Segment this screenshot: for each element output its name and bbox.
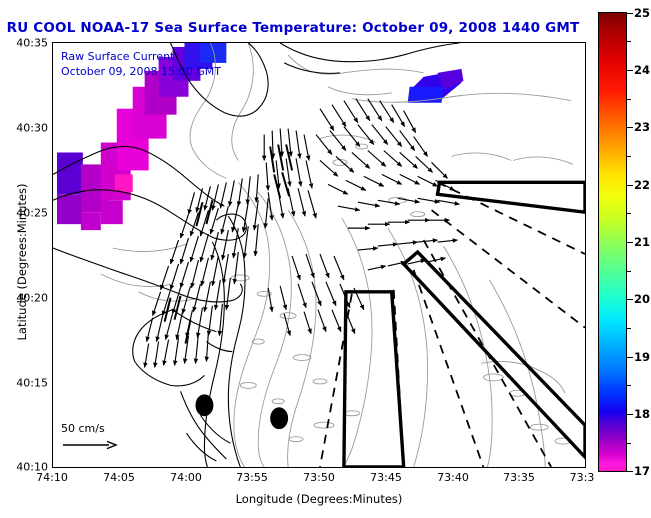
cbar-label-23: 23 bbox=[634, 120, 650, 134]
cbar-label-21: 21 bbox=[634, 235, 650, 249]
y-tick-0: 40:35 bbox=[4, 37, 48, 50]
cbar-label-24: 24 bbox=[634, 63, 650, 77]
cbar-minor-5 bbox=[627, 271, 631, 272]
subtitle-line-2: October 09, 2008 15:00 GMT bbox=[61, 64, 221, 79]
x-axis-title: Longitude (Degrees:Minutes) bbox=[52, 492, 586, 506]
y-tick-1: 40:30 bbox=[4, 122, 48, 135]
figure-title: RU COOL NOAA-17 Sea Surface Temperature:… bbox=[0, 20, 586, 36]
cbar-tick-22 bbox=[627, 185, 633, 186]
vector-density-core bbox=[165, 145, 293, 344]
cbar-minor-4 bbox=[627, 213, 631, 214]
temperature-colorbar bbox=[598, 12, 627, 472]
map-graphics bbox=[53, 43, 585, 467]
x-tick-8: 73:3 bbox=[570, 471, 595, 484]
y-axis-title: Latitude (Degrees:Minutes) bbox=[15, 162, 29, 362]
y-tick-5: 40:10 bbox=[4, 461, 48, 474]
cbar-minor-8 bbox=[627, 443, 631, 444]
x-tick-5: 73:45 bbox=[370, 471, 402, 484]
x-tick-1: 74:05 bbox=[103, 471, 135, 484]
cbar-minor-3 bbox=[627, 156, 631, 157]
radial-dashed-lines bbox=[320, 182, 585, 467]
cbar-label-19: 19 bbox=[634, 350, 650, 364]
right-arrow-icon bbox=[61, 439, 119, 451]
cbar-tick-18 bbox=[627, 414, 633, 415]
velocity-scale-legend: 50 cm/s bbox=[61, 422, 119, 451]
x-tick-4: 73:50 bbox=[303, 471, 335, 484]
cbar-label-17: 17 bbox=[634, 464, 650, 478]
cbar-minor-6 bbox=[627, 328, 631, 329]
cbar-tick-23 bbox=[627, 127, 633, 128]
cbar-minor-7 bbox=[627, 385, 631, 386]
cbar-tick-19 bbox=[627, 357, 633, 358]
scale-legend-label: 50 cm/s bbox=[61, 422, 119, 435]
cbar-label-18: 18 bbox=[634, 407, 650, 421]
x-tick-7: 73:35 bbox=[503, 471, 535, 484]
subtitle-block: Raw Surface Current October 09, 2008 15:… bbox=[61, 49, 221, 79]
cbar-label-20: 20 bbox=[634, 292, 650, 306]
cbar-tick-20 bbox=[627, 299, 633, 300]
x-tick-6: 73:40 bbox=[437, 471, 469, 484]
cbar-tick-17 bbox=[627, 471, 633, 472]
cbar-minor-1 bbox=[627, 41, 631, 42]
subtitle-line-1: Raw Surface Current bbox=[61, 49, 221, 64]
sst-current-map-figure: RU COOL NOAA-17 Sea Surface Temperature:… bbox=[0, 0, 651, 518]
shipping-lanes bbox=[344, 182, 585, 467]
cbar-tick-25 bbox=[627, 13, 633, 14]
surface-current-vectors bbox=[145, 99, 460, 368]
cbar-label-25: 25 bbox=[634, 6, 650, 20]
x-tick-2: 74:00 bbox=[170, 471, 202, 484]
cbar-label-22: 22 bbox=[634, 178, 650, 192]
x-tick-3: 73:55 bbox=[236, 471, 268, 484]
cbar-minor-2 bbox=[627, 99, 631, 100]
map-canvas: Raw Surface Current October 09, 2008 15:… bbox=[53, 43, 585, 467]
map-plot-area[interactable]: Raw Surface Current October 09, 2008 15:… bbox=[52, 42, 586, 468]
y-tick-4: 40:15 bbox=[4, 377, 48, 390]
cbar-tick-21 bbox=[627, 242, 633, 243]
cbar-tick-24 bbox=[627, 70, 633, 71]
